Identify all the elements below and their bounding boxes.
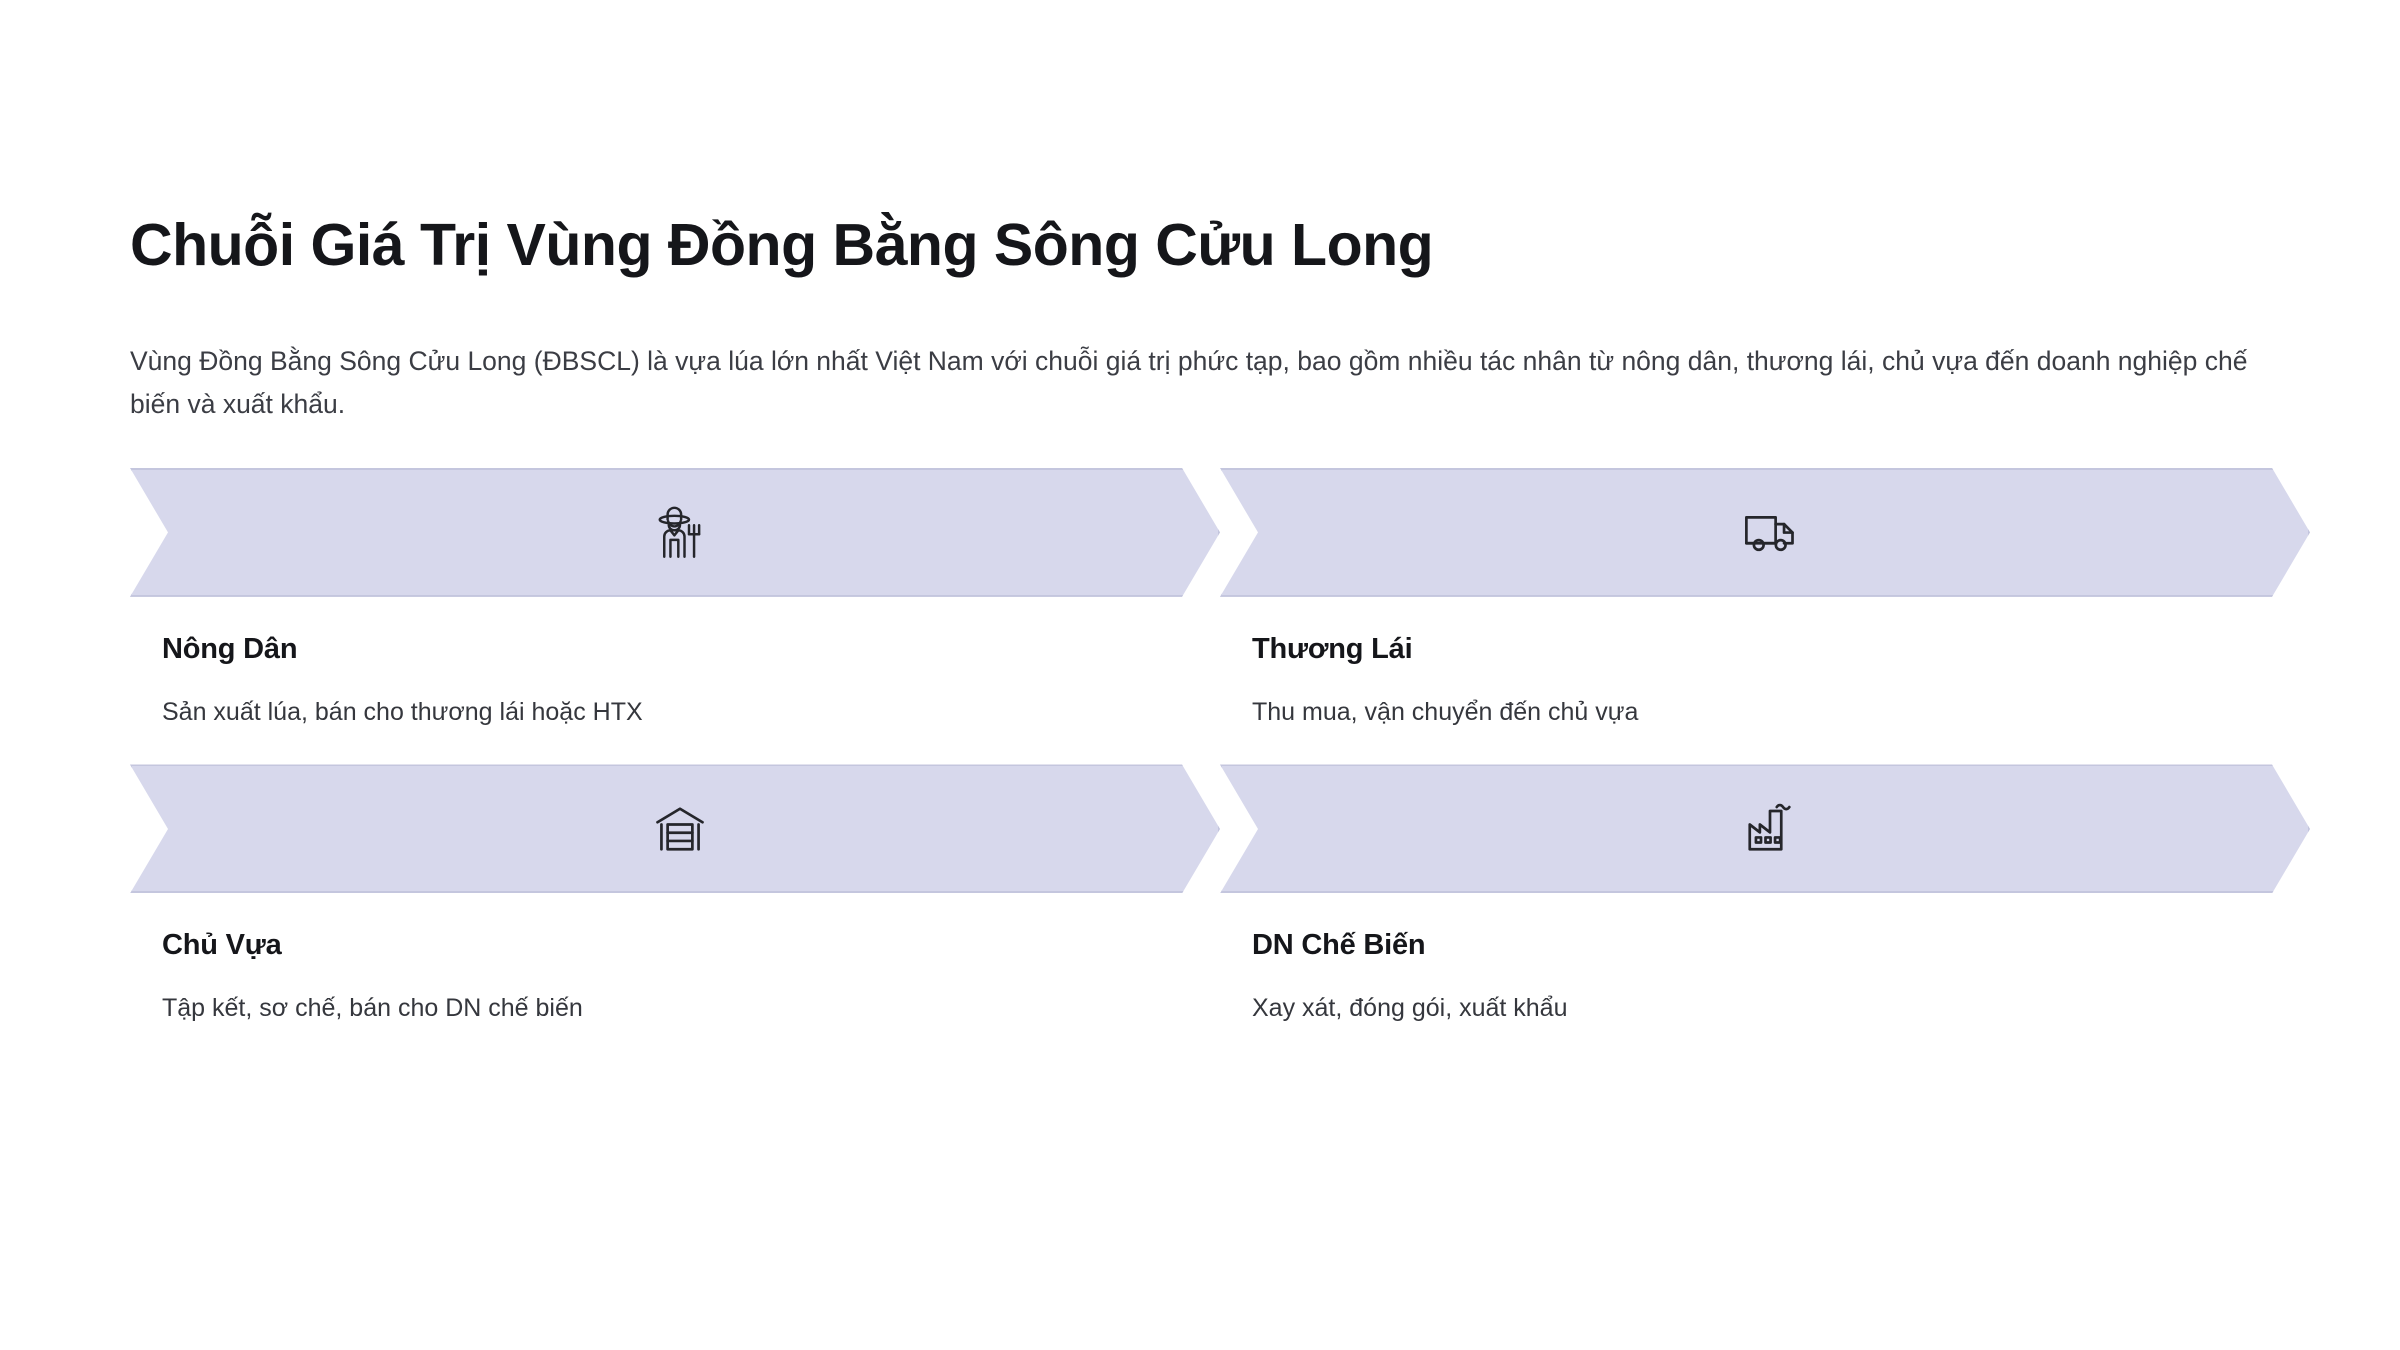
farmer-icon xyxy=(653,505,707,559)
page-intro-paragraph: Vùng Đồng Bằng Sông Cửu Long (ĐBSCL) là … xyxy=(130,340,2295,426)
chevron-banner[interactable] xyxy=(1220,764,2310,893)
chain-step-card[interactable]: DN Chế Biến Xay xát, đóng gói, xuất khẩu xyxy=(1220,764,2310,1061)
chain-step-card[interactable]: Nông Dân Sản xuất lúa, bán cho thương lá… xyxy=(130,468,1220,765)
page-root: Chuỗi Giá Trị Vùng Đồng Bằng Sông Cửu Lo… xyxy=(0,0,2400,1350)
chain-step-card[interactable]: Thương Lái Thu mua, vận chuyển đến chủ v… xyxy=(1220,468,2310,765)
chain-step-description: Sản xuất lúa, bán cho thương lái hoặc HT… xyxy=(162,696,1220,765)
chevron-banner[interactable] xyxy=(130,468,1220,597)
warehouse-icon xyxy=(653,802,707,856)
chain-step-description: Thu mua, vận chuyển đến chủ vựa xyxy=(1252,696,2310,765)
chain-step-card[interactable]: Chủ Vựa Tập kết, sơ chế, bán cho DN chế … xyxy=(130,764,1220,1061)
value-chain-grid: Nông Dân Sản xuất lúa, bán cho thương lá… xyxy=(130,468,2300,1061)
page-title: Chuỗi Giá Trị Vùng Đồng Bằng Sông Cửu Lo… xyxy=(130,212,2300,278)
delivery-truck-icon xyxy=(1743,505,1797,559)
chevron-banner[interactable] xyxy=(1220,468,2310,597)
factory-icon xyxy=(1743,802,1797,856)
chain-step-text: DN Chế Biến Xay xát, đóng gói, xuất khẩu xyxy=(1220,928,2310,1061)
content-container: Chuỗi Giá Trị Vùng Đồng Bằng Sông Cửu Lo… xyxy=(130,0,2300,1061)
chain-step-text: Nông Dân Sản xuất lúa, bán cho thương lá… xyxy=(130,632,1220,765)
chain-step-description: Xay xát, đóng gói, xuất khẩu xyxy=(1252,992,2310,1061)
chain-step-description: Tập kết, sơ chế, bán cho DN chế biến xyxy=(162,992,1220,1061)
chain-step-title: Nông Dân xyxy=(162,632,1220,667)
chain-step-text: Thương Lái Thu mua, vận chuyển đến chủ v… xyxy=(1220,632,2310,765)
chevron-banner[interactable] xyxy=(130,764,1220,893)
chain-step-title: Thương Lái xyxy=(1252,632,2310,667)
chain-step-title: Chủ Vựa xyxy=(162,928,1220,963)
chain-step-text: Chủ Vựa Tập kết, sơ chế, bán cho DN chế … xyxy=(130,928,1220,1061)
chain-step-title: DN Chế Biến xyxy=(1252,928,2310,963)
